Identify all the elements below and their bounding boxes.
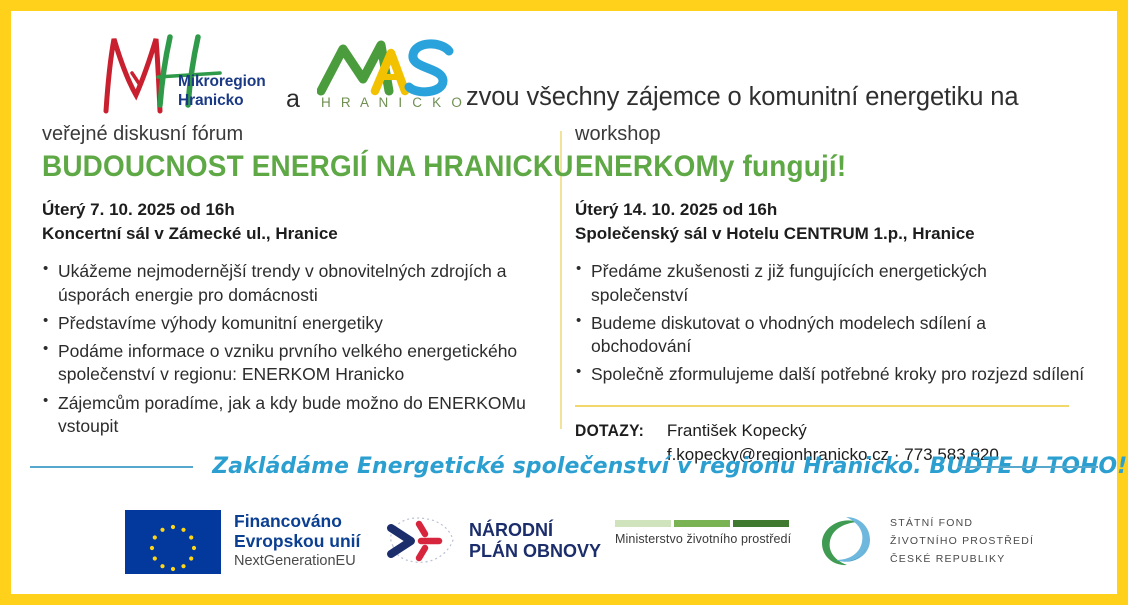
forum-kicker: veřejné diskusní fórum [42, 123, 542, 145]
workshop-title: ENERKOMy fungují! [575, 151, 1051, 183]
ministry-environment-logo: Ministerstvo životního prostředí [615, 520, 791, 546]
event-forum: veřejné diskusní fórum BUDOUCNOST ENERGI… [42, 123, 542, 443]
invitation-text: zvou všechny zájemce o komunitní energet… [466, 83, 1018, 112]
workshop-bullet-list: Předáme zkušenosti z již fungujících ene… [575, 260, 1087, 386]
npo-logo-line1: NÁRODNÍ [469, 520, 601, 541]
mzp-bars-icon [615, 520, 791, 527]
workshop-venue: Společenský sál v Hotelu CENTRUM 1.p., H… [575, 223, 1087, 246]
forum-datetime: Úterý 7. 10. 2025 od 16h [42, 199, 542, 222]
list-item: Představíme výhody komunitní energetiky [42, 312, 542, 335]
sfzp-logo-line3: ČESKÉ REPUBLIKY [890, 550, 1034, 568]
contact-label: DOTAZY: [575, 419, 644, 444]
tagline-text: Zakládáme Energetické společenství v reg… [212, 443, 940, 489]
forum-title: BUDOUCNOST ENERGIÍ NA HRANICKU [42, 151, 507, 183]
eu-logo-line1: Financováno [234, 511, 360, 531]
eu-logo-text: Financováno Evropskou unií NextGeneratio… [234, 511, 360, 573]
workshop-kicker: workshop [575, 123, 1087, 145]
sfzp-logo-text: STÁTNÍ FOND ŽIVOTNÍHO PROSTŘEDÍ ČESKÉ RE… [890, 514, 1034, 568]
contact-divider [575, 405, 1069, 407]
list-item: Předáme zkušenosti z již fungujících ene… [575, 260, 1087, 307]
event-workshop: workshop ENERKOMy fungují! Úterý 14. 10.… [575, 123, 1087, 468]
header: Mikroregion Hranicko a H R A N I C K O z… [11, 11, 1117, 123]
npo-logo-line2: PLÁN OBNOVY [469, 541, 601, 562]
list-item: Budeme diskutovat o vhodných modelech sd… [575, 312, 1087, 359]
contact-name: František Kopecký [667, 419, 999, 444]
eu-logo-line2: Evropskou unií [234, 531, 360, 551]
list-item: Společně zformulujeme další potřebné kro… [575, 363, 1087, 386]
mas-logo-subtitle: H R A N I C K O [321, 95, 465, 110]
eu-funding-logo: Financováno Evropskou unií NextGeneratio… [125, 510, 360, 574]
npo-arrow-icon [381, 512, 459, 570]
mikroregion-logo-line1: Mikroregion [178, 73, 266, 92]
eu-logo-line3: NextGenerationEU [234, 551, 360, 573]
mas-hranicko-logo: H R A N I C K O [317, 39, 469, 117]
state-environmental-fund-logo: STÁTNÍ FOND ŽIVOTNÍHO PROSTŘEDÍ ČESKÉ RE… [814, 512, 1034, 570]
sfzp-logo-line2: ŽIVOTNÍHO PROSTŘEDÍ [890, 532, 1034, 550]
mas-hranicko-logo-mark [317, 39, 469, 99]
sfzp-swirl-icon [814, 512, 876, 570]
mikroregion-hranicko-logo: Mikroregion Hranicko [98, 33, 274, 115]
npo-logo-text: NÁRODNÍ PLÁN OBNOVY [469, 520, 601, 561]
tagline-row: Zakládáme Energetické společenství v reg… [11, 443, 1117, 489]
list-item: Ukážeme nejmodernější trendy v obnovitel… [42, 260, 542, 307]
forum-bullet-list: Ukážeme nejmodernější trendy v obnovitel… [42, 260, 542, 438]
eu-stars-icon [125, 510, 221, 574]
tagline-rule-right [958, 466, 1098, 468]
national-recovery-plan-logo: NÁRODNÍ PLÁN OBNOVY [381, 512, 601, 570]
events-section: veřejné diskusní fórum BUDOUCNOST ENERGI… [11, 123, 1117, 433]
conjunction-text: a [286, 85, 300, 114]
poster-canvas: Mikroregion Hranicko a H R A N I C K O z… [11, 11, 1117, 594]
workshop-datetime: Úterý 14. 10. 2025 od 16h [575, 199, 1087, 222]
forum-venue: Koncertní sál v Zámecké ul., Hranice [42, 223, 542, 246]
list-item: Zájemcům poradíme, jak a kdy bude možno … [42, 392, 542, 439]
sfzp-logo-line1: STÁTNÍ FOND [890, 514, 1034, 532]
footer-logos: Financováno Evropskou unií NextGeneratio… [11, 498, 1117, 594]
mikroregion-logo-line2: Hranicko [178, 92, 266, 111]
tagline-rule-left [30, 466, 193, 468]
mzp-logo-text: Ministerstvo životního prostředí [615, 532, 791, 546]
eu-flag-icon [125, 510, 221, 574]
list-item: Podáme informace o vzniku prvního velkéh… [42, 340, 542, 387]
